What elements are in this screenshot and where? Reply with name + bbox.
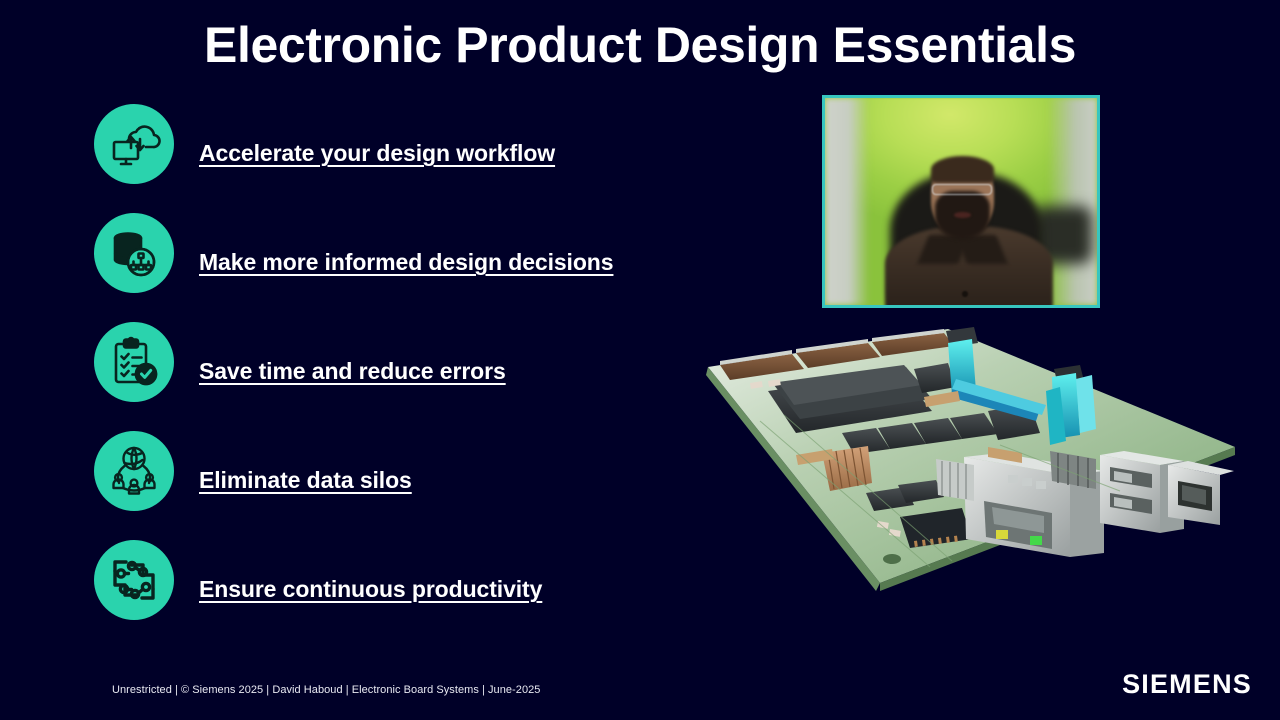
wall-left [825,98,869,305]
shirt-button [962,291,967,297]
presenter-hair [931,156,994,183]
eyeglasses [932,184,992,195]
list-item-label: Make more informed design decisions [199,249,613,276]
footer-legal-text: Unrestricted | © Siemens 2025 | David Ha… [112,684,540,696]
pcb-illustration [700,325,1240,615]
wall-right [1048,98,1097,305]
cloud-sync-monitor-icon [94,104,174,184]
pcb-3d-render [700,325,1240,615]
page-title: Electronic Product Design Essentials [0,14,1280,76]
database-hierarchy-icon [94,213,174,293]
list-item-label: Save time and reduce errors [199,358,506,385]
benefits-list: Accelerate your design workflow [94,104,714,649]
list-item[interactable]: Save time and reduce errors [94,322,714,431]
list-item[interactable]: Accelerate your design workflow [94,104,714,213]
finned-heatsink [936,459,974,501]
clipboard-check-icon [94,322,174,402]
list-item-label: Ensure continuous productivity [199,576,542,603]
presentation-slide: Electronic Product Design Essentials Acc… [0,0,1280,720]
edge-connector [1168,461,1234,525]
siemens-logo: SIEMENS [1122,669,1252,700]
globe-people-network-icon [94,431,174,511]
presenter-video-feed[interactable] [822,95,1100,308]
circuit-trace-icon [94,540,174,620]
list-item[interactable]: Make more informed design decisions [94,213,714,322]
list-item-label: Accelerate your design workflow [199,140,555,167]
list-item[interactable]: Eliminate data silos [94,431,714,540]
list-item[interactable]: Ensure continuous productivity [94,540,714,649]
list-item-label: Eliminate data silos [199,467,412,494]
mounting-hole [883,554,901,564]
